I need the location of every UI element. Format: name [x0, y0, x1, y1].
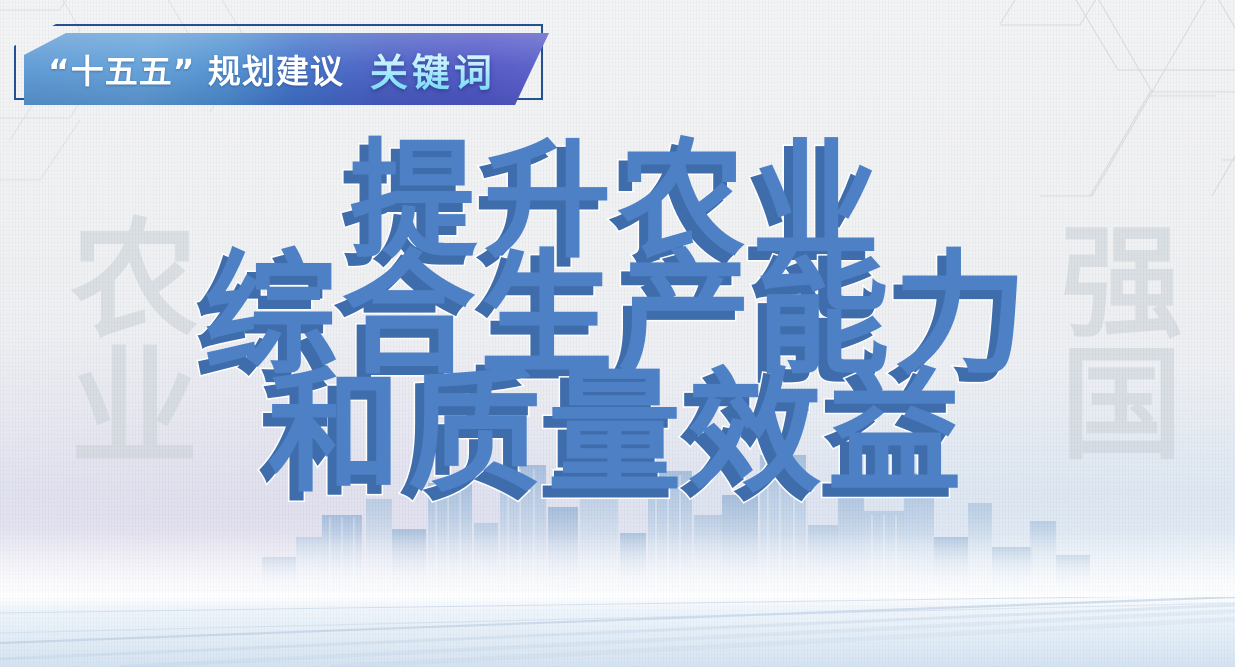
poster-canvas: 农业 强国 — [0, 0, 1235, 667]
banner-keyword-label: 关键词 — [370, 42, 496, 97]
headline-line-3-text: 和质量效益 — [0, 366, 1235, 500]
headline-line-3: 和质量效益 和质量效益 和质量效益 — [0, 366, 1235, 500]
banner-series-label: “十五五” 规划建议 — [48, 45, 344, 93]
banner-body: “十五五” 规划建议 关键词 — [24, 33, 549, 105]
headline-block: 提升农业 提升农业 提升农业 综合生产能力 综合生产能力 综合生产能力 和质量效… — [0, 138, 1235, 500]
keyword-banner[interactable]: “十五五” 规划建议 关键词 — [14, 24, 554, 106]
